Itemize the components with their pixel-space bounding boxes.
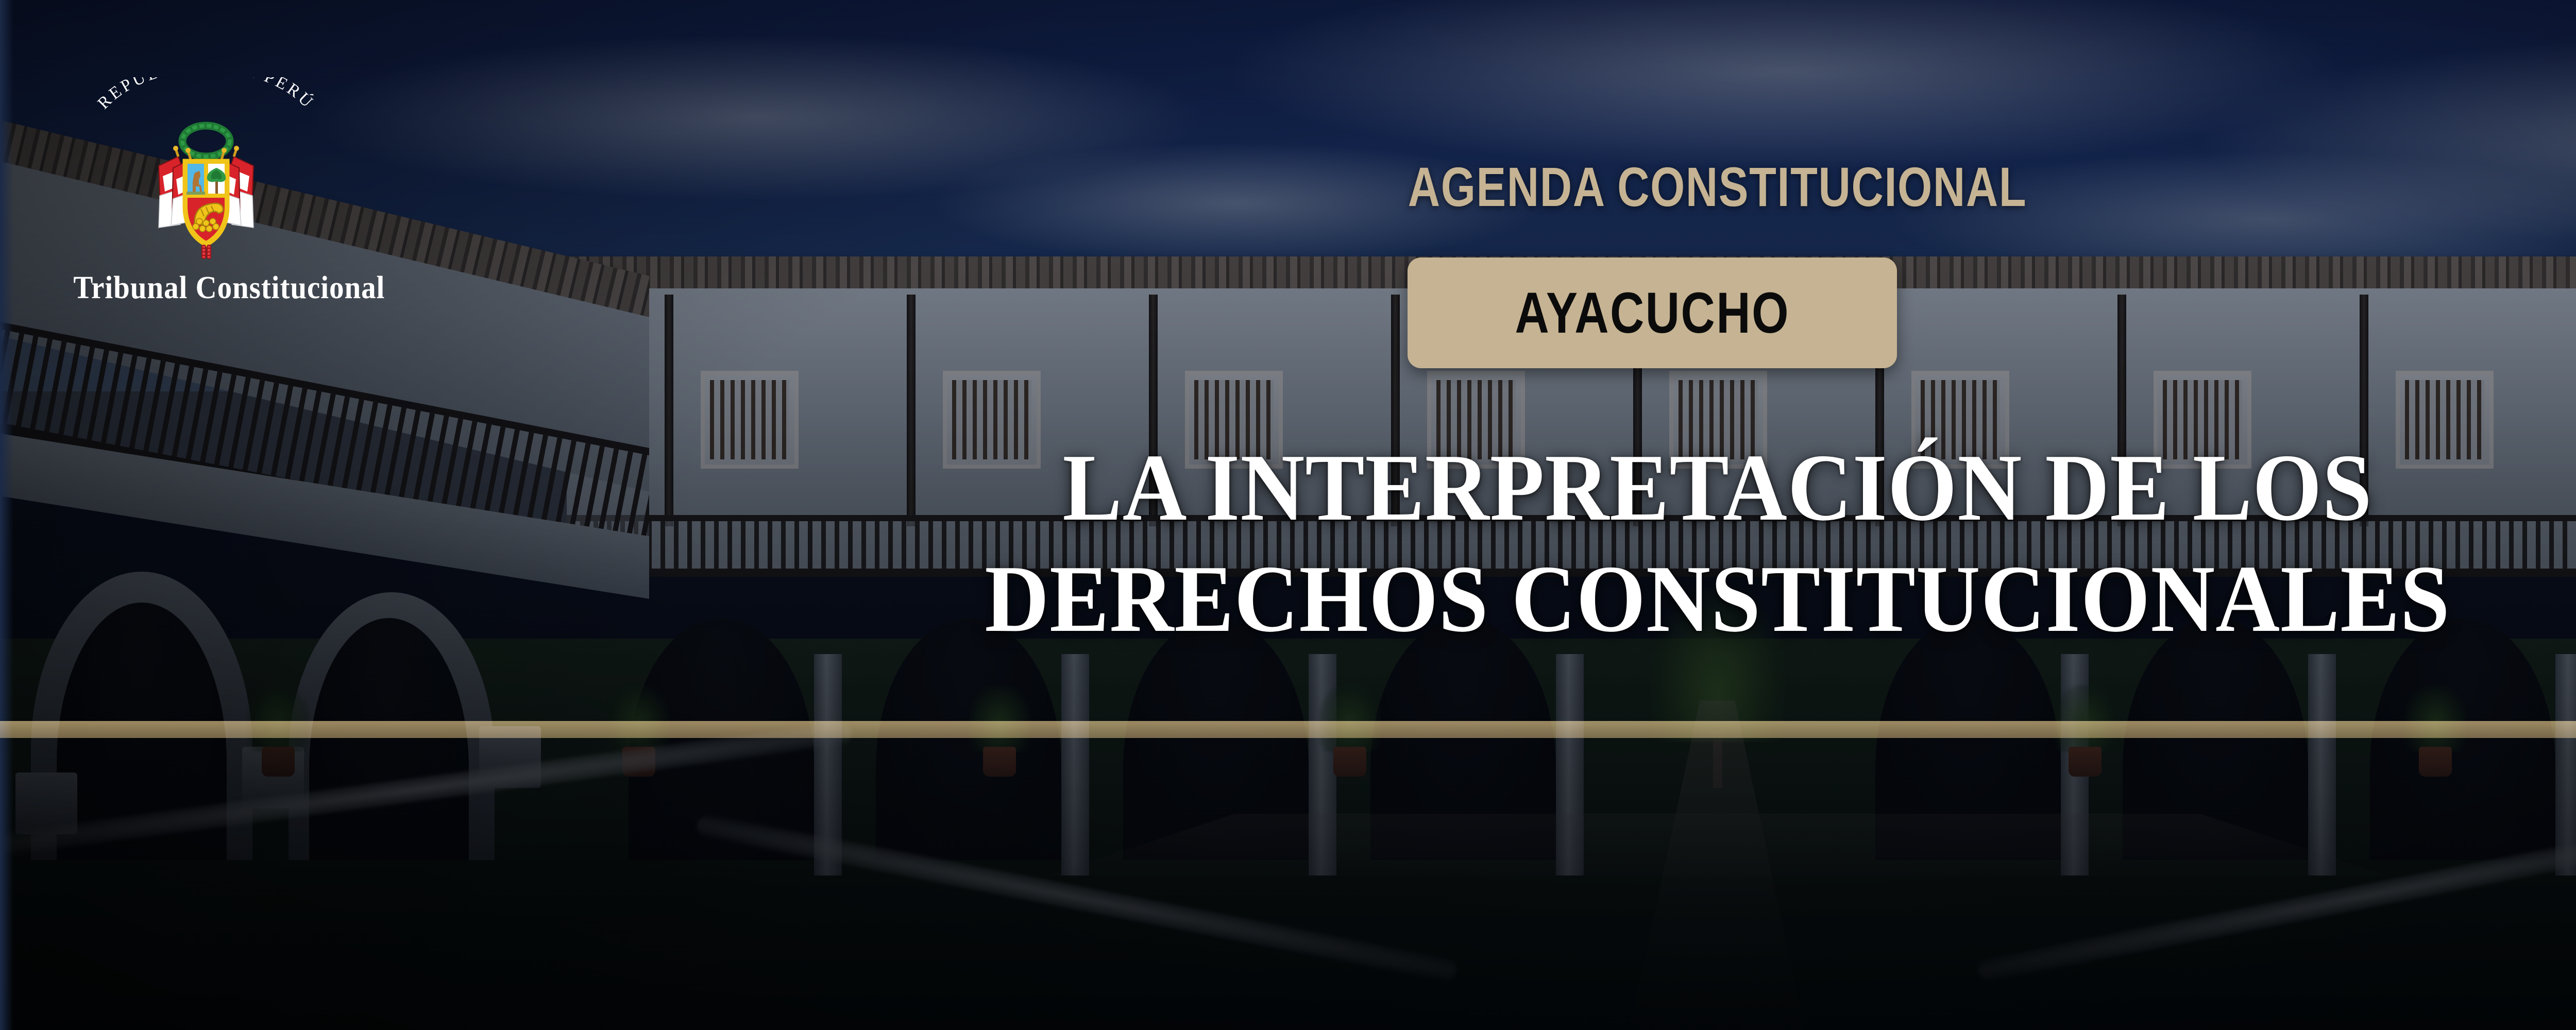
republica-del-peru-label: REPÚBLICA DEL PERÚ: [94, 77, 318, 113]
event-banner: REPÚBLICA DEL PERÚ: [0, 0, 2576, 1030]
peru-coat-of-arms-icon: [129, 118, 283, 273]
logo-tribunal-constitucional: REPÚBLICA DEL PERÚ: [62, 77, 350, 306]
page-title: LA INTERPRETACIÓN DE LOS DERECHOS CONSTI…: [120, 433, 2576, 655]
republica-del-peru-arc: REPÚBLICA DEL PERÚ: [62, 77, 350, 117]
svg-text:REPÚBLICA DEL PERÚ: REPÚBLICA DEL PERÚ: [94, 77, 318, 113]
city-badge-label: AYACUCHO: [1515, 280, 1789, 346]
city-badge: AYACUCHO: [1408, 257, 1897, 368]
title-line-1: LA INTERPRETACIÓN DE LOS: [120, 433, 2576, 544]
tribunal-constitucional-label: Tribunal Constitucional: [73, 270, 338, 306]
agenda-kicker: AGENDA CONSTITUCIONAL: [344, 154, 2576, 219]
title-line-2: DERECHOS CONSTITUCIONALES: [120, 544, 2576, 655]
